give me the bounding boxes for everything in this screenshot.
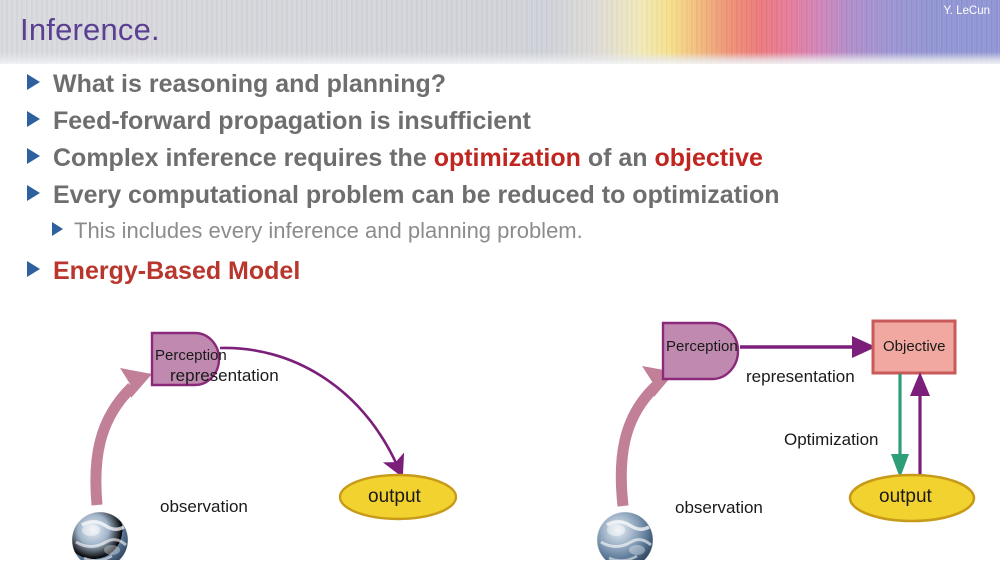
bullet-text-3-mid: of an bbox=[581, 144, 655, 172]
arrow-observation-to-perception bbox=[621, 366, 675, 506]
bullet-text-3-highlight-objective: objective bbox=[655, 144, 763, 172]
arrow-optimization-down bbox=[891, 374, 909, 478]
node-objective[interactable] bbox=[873, 321, 955, 373]
header-bottom-fade bbox=[0, 52, 1000, 64]
bullet-item-2: Feed-forward propagation is insufficient bbox=[0, 109, 1000, 146]
bullet-text-3: Complex inference requires the optimizat… bbox=[53, 146, 763, 171]
triangle-bullet-icon bbox=[27, 261, 40, 277]
diagram-feedforward: Perception output representation observa… bbox=[60, 310, 500, 560]
bullet-text-5: This includes every inference and planni… bbox=[74, 220, 583, 242]
arrow-optimization-up bbox=[910, 372, 930, 480]
diagram-left-canvas bbox=[60, 310, 500, 560]
arrow-observation-to-perception bbox=[96, 368, 152, 505]
slide-header-banner: Inference. Y. LeCun bbox=[0, 0, 1000, 64]
bullet-text-2: Feed-forward propagation is insufficient bbox=[53, 109, 531, 134]
node-output[interactable] bbox=[850, 475, 974, 521]
bullet-item-6: Energy-Based Model bbox=[0, 255, 1000, 299]
node-perception[interactable] bbox=[663, 323, 738, 379]
bullet-item-4: Every computational problem can be reduc… bbox=[0, 183, 1000, 220]
bullet-text-6-energy-based-model: Energy-Based Model bbox=[53, 259, 300, 284]
node-output[interactable] bbox=[340, 475, 456, 519]
optimization-label: Optimization bbox=[784, 430, 878, 450]
bullet-text-1: What is reasoning and planning? bbox=[53, 72, 446, 97]
representation-label: representation bbox=[746, 367, 855, 387]
bullet-text-3-highlight-optimization: optimization bbox=[434, 144, 581, 172]
triangle-bullet-icon bbox=[27, 148, 40, 164]
earth-globe-icon bbox=[72, 512, 128, 560]
bullet-text-3-pre: Complex inference requires the bbox=[53, 144, 434, 172]
bullet-list: What is reasoning and planning? Feed-for… bbox=[0, 72, 1000, 299]
diagram-energy-based-model: Perception Objective output representati… bbox=[580, 310, 1000, 560]
bullet-text-4: Every computational problem can be reduc… bbox=[53, 183, 780, 208]
author-credit: Y. LeCun bbox=[944, 5, 990, 17]
page-title: Inference. bbox=[20, 12, 160, 48]
representation-label: representation bbox=[170, 366, 279, 386]
earth-globe-icon bbox=[597, 512, 653, 560]
bullet-item-3: Complex inference requires the optimizat… bbox=[0, 146, 1000, 183]
triangle-bullet-icon bbox=[27, 185, 40, 201]
arrow-representation bbox=[740, 336, 876, 358]
triangle-bullet-icon bbox=[27, 111, 40, 127]
triangle-bullet-icon bbox=[52, 222, 63, 236]
bullet-item-5-sub: This includes every inference and planni… bbox=[0, 220, 1000, 255]
triangle-bullet-icon bbox=[27, 74, 40, 90]
bullet-item-1: What is reasoning and planning? bbox=[0, 72, 1000, 109]
